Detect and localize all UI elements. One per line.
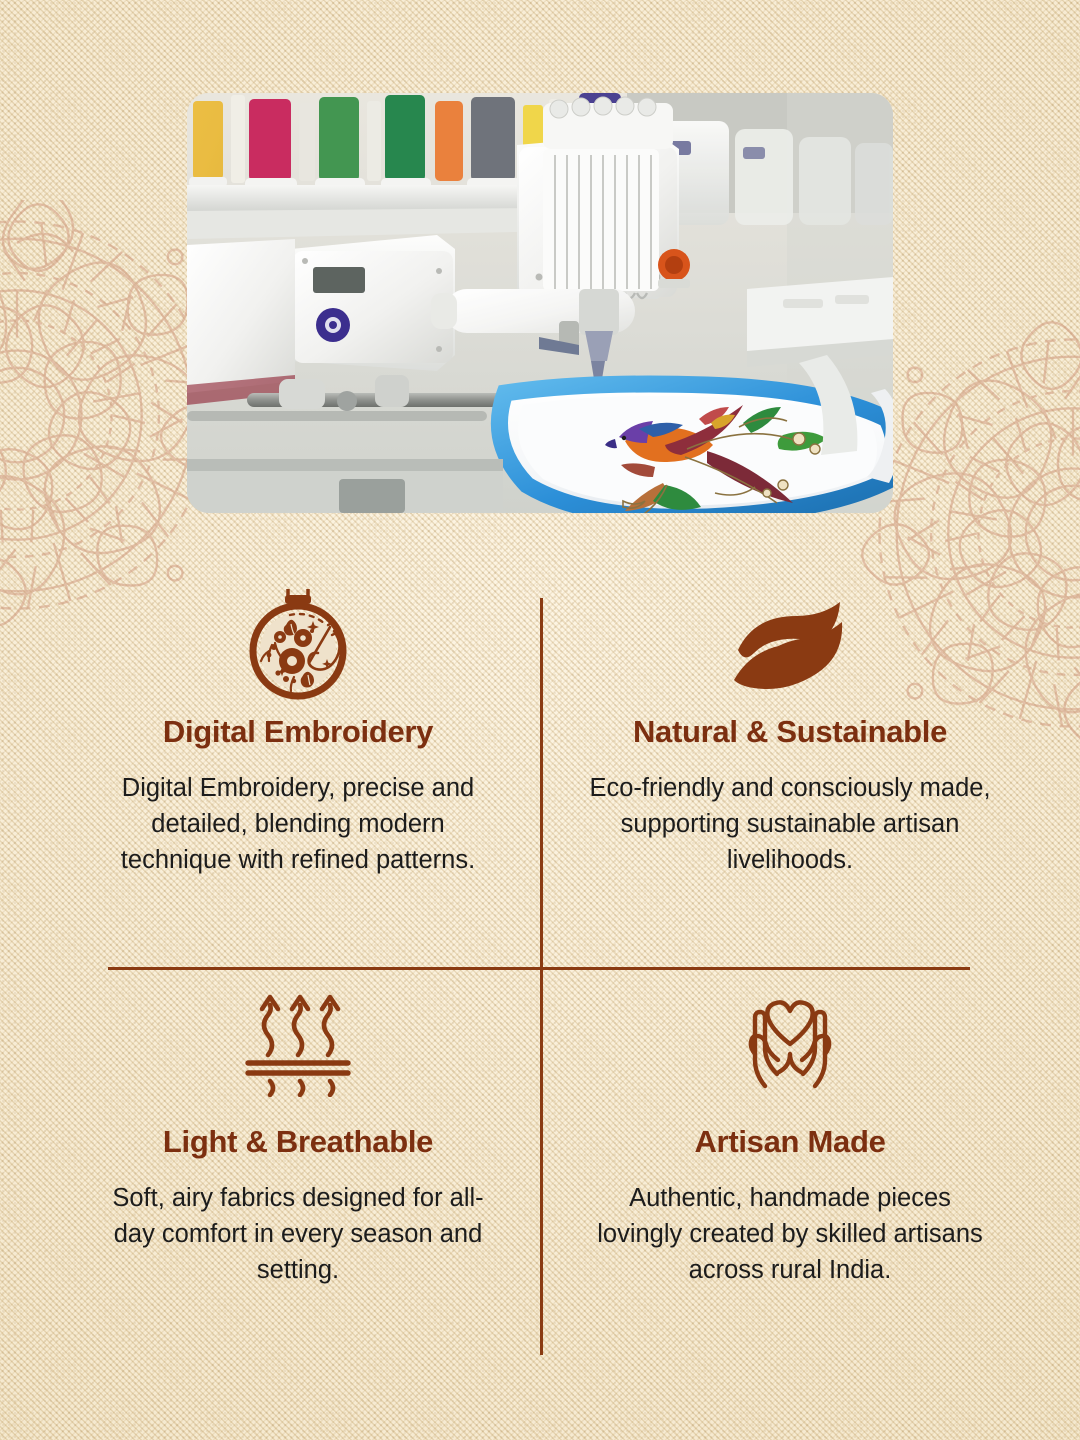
leaf-icon	[720, 588, 860, 700]
feature-description: Authentic, handmade pieces lovingly crea…	[590, 1180, 990, 1289]
hands-holding-heart-icon	[735, 982, 845, 1102]
feature-card-artisan-made: Artisan Made Authentic, handmade pieces …	[540, 982, 1040, 1288]
feature-title: Digital Embroidery	[163, 714, 433, 750]
feature-card-natural-sustainable: Natural & Sustainable Eco-friendly and c…	[540, 588, 1040, 878]
breathable-fabric-icon	[240, 982, 356, 1102]
feature-card-digital-embroidery: Digital Embroidery Digital Embroidery, p…	[48, 588, 548, 878]
feature-card-light-breathable: Light & Breathable Soft, airy fabrics de…	[48, 982, 548, 1288]
feature-description: Eco-friendly and consciously made, suppo…	[586, 770, 994, 879]
feature-title: Light & Breathable	[163, 1124, 433, 1160]
embroidery-hoop-icon	[242, 588, 354, 700]
feature-grid: Digital Embroidery Digital Embroidery, p…	[0, 570, 1080, 1370]
grid-divider-horizontal	[108, 967, 970, 970]
feature-title: Artisan Made	[694, 1124, 885, 1160]
feature-title: Natural & Sustainable	[633, 714, 947, 750]
feature-description: Digital Embroidery, precise and detailed…	[108, 770, 488, 879]
embroidery-machine-photo	[187, 93, 893, 513]
feature-description: Soft, airy fabrics designed for all-day …	[98, 1180, 498, 1289]
